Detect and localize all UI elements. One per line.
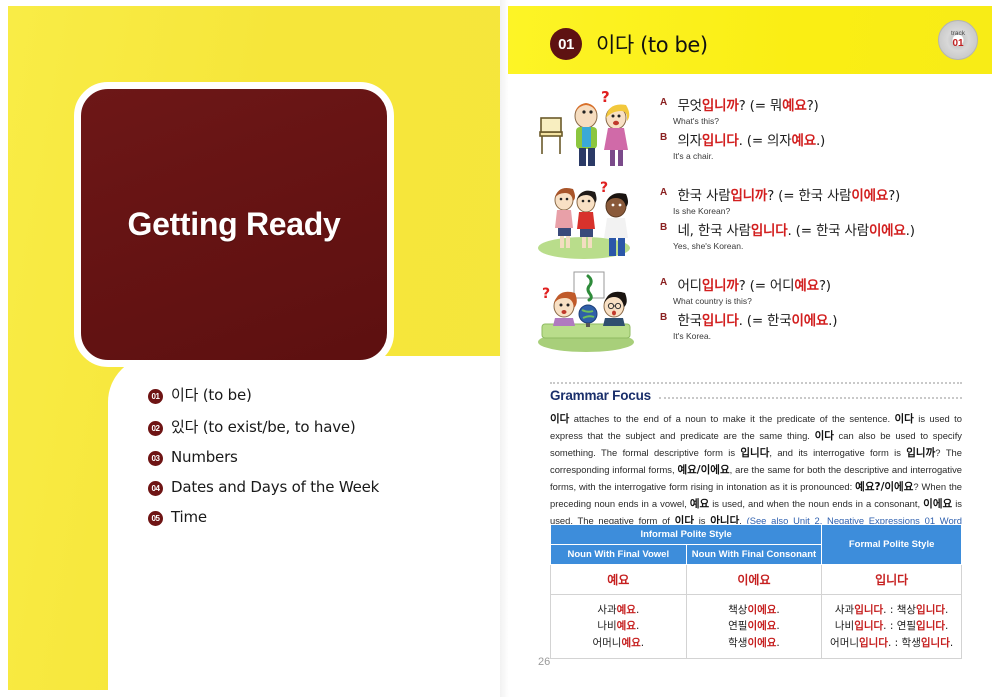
toc-number-badge: 01 [148, 389, 163, 404]
korean-sentence: 한국 사람입니까? (= 한국 사람이에요?) [677, 188, 900, 204]
dialogue-block: ? A 무엇입니까? (= 뭐예요?) What's this? B 의자입니다… [528, 88, 988, 172]
audio-track-badge[interactable]: track 01 [938, 20, 978, 60]
track-label: track [951, 31, 965, 38]
unit-header: 01 이다 (to be) [550, 28, 708, 60]
table-row: 사과예요.나비예요.어머니예요. 책상이에요.연필이에요.학생이에요. 사과입니… [551, 595, 962, 659]
list-item[interactable]: 05 Time [148, 508, 478, 527]
speaker-label: B [660, 222, 673, 233]
chair-scene-icon: ? [528, 88, 646, 172]
table-group-header: Formal Polite Style [822, 525, 962, 565]
unit-title: 이다 (to be) [596, 29, 708, 59]
english-translation: What country is this? [673, 296, 988, 306]
english-translation: Yes, she's Korean. [673, 241, 988, 251]
korean-sentence: 의자입니다. (= 의자예요.) [677, 133, 825, 149]
dotted-divider [659, 397, 962, 400]
english-translation: It's Korea. [673, 331, 988, 341]
korean-girl-scene-icon: ? [528, 178, 646, 262]
table-of-contents: 01 이다 (to be) 02 있다 (to exist/be, to hav… [148, 384, 478, 538]
toc-item-label: 있다 (to exist/be, to have) [171, 416, 356, 437]
toc-number-badge: 04 [148, 481, 163, 496]
toc-number-badge: 05 [148, 511, 163, 526]
dialogue-line: B 한국입니다. (= 한국이에요.) It's Korea. [660, 309, 988, 341]
table-column-header: Noun With Final Consonant [686, 545, 822, 565]
svg-text:?: ? [601, 88, 610, 106]
dialogue-line: A 어디입니까? (= 어디예요?) What country is this? [660, 274, 988, 306]
left-page: Getting Ready 01 이다 (to be) 02 있다 (to ex… [8, 6, 500, 690]
dialogue-line: A 무엇입니까? (= 뭐예요?) What's this? [660, 94, 988, 126]
illustration-globe-scene: ? [528, 268, 646, 352]
english-translation: It's a chair. [673, 151, 988, 161]
list-item[interactable]: 02 있다 (to exist/be, to have) [148, 416, 478, 437]
table-cell-form: 이에요 [686, 565, 822, 595]
korean-sentence: 어디입니까? (= 어디예요?) [677, 278, 830, 294]
illustration-korean-girl-scene: ? [528, 178, 646, 262]
right-page: 01 이다 (to be) track 01 [508, 6, 992, 690]
page-number: 26 [538, 656, 550, 668]
korean-sentence: 한국입니다. (= 한국이에요.) [677, 313, 837, 329]
speaker-label: A [660, 97, 673, 108]
table-header-row: Informal Polite Style Formal Polite Styl… [551, 525, 962, 545]
table-group-header: Informal Polite Style [551, 525, 822, 545]
list-item[interactable]: 04 Dates and Days of the Week [148, 478, 478, 497]
book-spread: Getting Ready 01 이다 (to be) 02 있다 (to ex… [0, 0, 1000, 697]
grammar-focus-heading: Grammar Focus [550, 388, 651, 403]
table-cell-examples: 사과입니다. : 책상입니다.나비입니다. : 연필입니다.어머니입니다. : … [822, 595, 962, 659]
grammar-focus-section: Grammar Focus 이다 attaches to the end of … [550, 382, 962, 545]
page-title: Getting Ready [127, 206, 340, 243]
dialogue-line: B 네, 한국 사람입니다. (= 한국 사람이에요.) Yes, she's … [660, 219, 988, 251]
english-translation: Is she Korean? [673, 206, 988, 216]
english-translation: What's this? [673, 116, 988, 126]
dialogue-block: ? A 한국 사람입니까? (= 한국 사람이에요?) Is she Korea… [528, 178, 988, 262]
speaker-label: B [660, 132, 673, 143]
table-cell-form: 입니다 [822, 565, 962, 595]
grammar-focus-header: Grammar Focus [550, 382, 962, 403]
dialogue-line: A 한국 사람입니까? (= 한국 사람이에요?) Is she Korean? [660, 184, 988, 216]
dialogue-lines: A 무엇입니까? (= 뭐예요?) What's this? B 의자입니다. … [646, 88, 988, 172]
section-title-box: Getting Ready [74, 82, 394, 367]
track-number: 01 [952, 39, 963, 49]
dialogue-lines: A 어디입니까? (= 어디예요?) What country is this?… [646, 268, 988, 352]
speaker-label: A [660, 277, 673, 288]
speaker-label: B [660, 312, 673, 323]
table-row: 예요 이에요 입니다 [551, 565, 962, 595]
table-cell-examples: 사과예요.나비예요.어머니예요. [551, 595, 687, 659]
polite-style-table: Informal Polite Style Formal Polite Styl… [550, 524, 962, 659]
table-column-header: Noun With Final Vowel [551, 545, 687, 565]
toc-item-label: Numbers [171, 448, 238, 466]
toc-number-badge: 03 [148, 451, 163, 466]
table-cell-examples: 책상이에요.연필이에요.학생이에요. [686, 595, 822, 659]
svg-text:?: ? [542, 286, 550, 302]
dialogue-block: ? [528, 268, 988, 352]
toc-item-label: Time [171, 508, 207, 526]
toc-number-badge: 02 [148, 421, 163, 436]
illustration-chair-scene: ? [528, 88, 646, 172]
korean-sentence: 무엇입니까? (= 뭐예요?) [677, 98, 818, 114]
dialogue-lines: A 한국 사람입니까? (= 한국 사람이에요?) Is she Korean?… [646, 178, 988, 262]
dialogue-line: B 의자입니다. (= 의자예요.) It's a chair. [660, 129, 988, 161]
speaker-label: A [660, 187, 673, 198]
svg-text:?: ? [600, 180, 608, 196]
korean-sentence: 네, 한국 사람입니다. (= 한국 사람이에요.) [677, 223, 914, 239]
table-cell-form: 예요 [551, 565, 687, 595]
list-item[interactable]: 03 Numbers [148, 448, 478, 467]
toc-item-label: 이다 (to be) [171, 384, 252, 405]
globe-scene-icon: ? [528, 268, 646, 352]
list-item[interactable]: 01 이다 (to be) [148, 384, 478, 405]
dialogue-section: ? A 무엇입니까? (= 뭐예요?) What's this? B 의자입니다… [528, 88, 988, 358]
toc-item-label: Dates and Days of the Week [171, 478, 379, 496]
unit-number-badge: 01 [550, 28, 582, 60]
